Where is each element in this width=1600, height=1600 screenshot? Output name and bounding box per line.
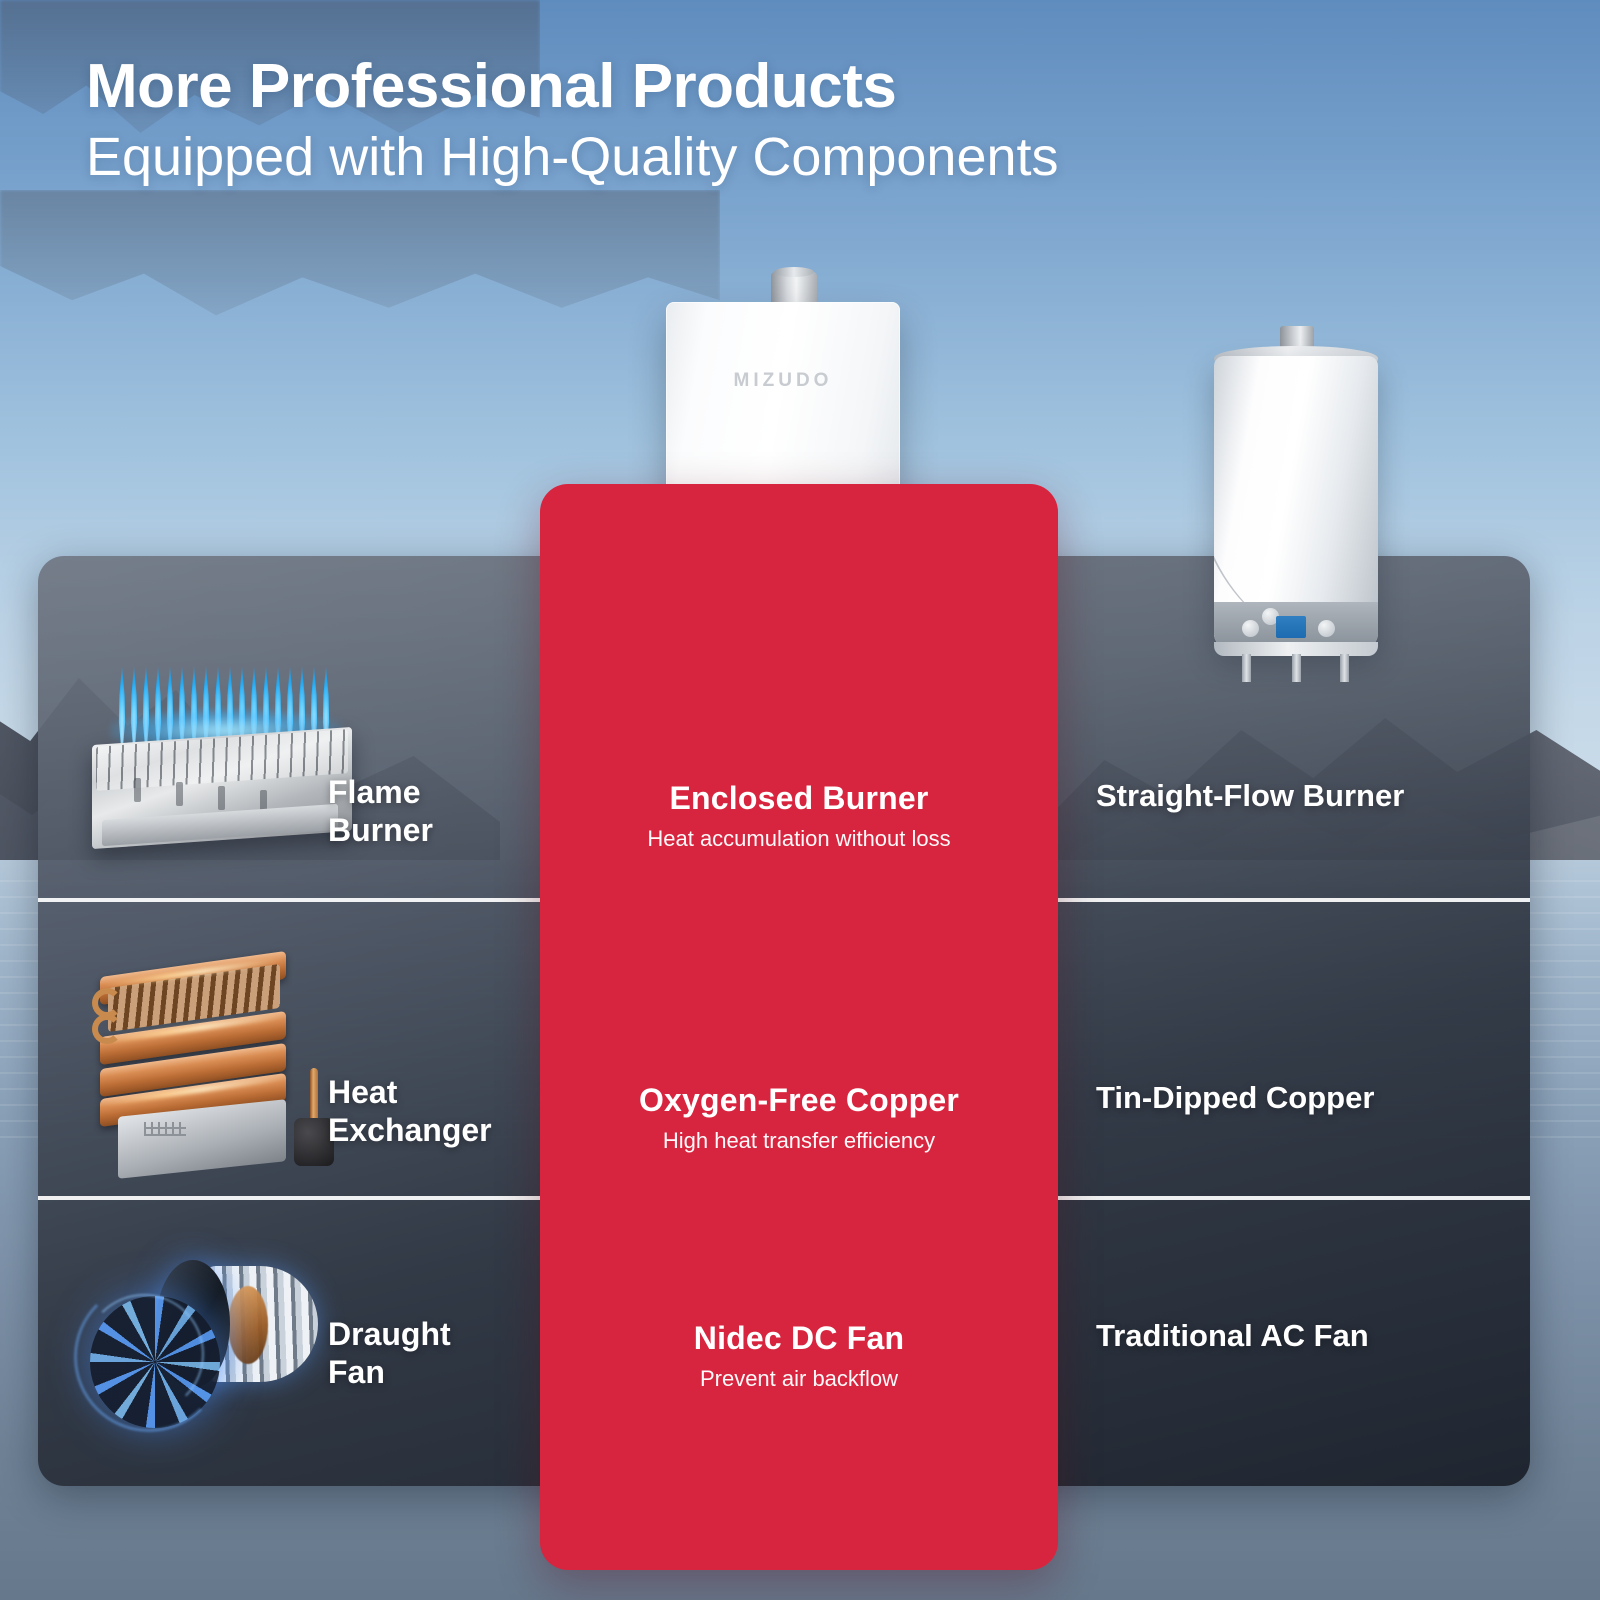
brand-logo: MIZUDO bbox=[666, 370, 900, 392]
highlight-subtitle: Heat accumulation without loss bbox=[540, 826, 1058, 852]
competitor-body bbox=[1214, 356, 1378, 648]
competitor-pipe-center bbox=[1292, 654, 1301, 682]
component-label-heat-exchanger: Heat Exchanger bbox=[328, 1074, 543, 1150]
component-label-line-1: Draught bbox=[328, 1316, 538, 1354]
highlight-subtitle: Prevent air backflow bbox=[540, 1366, 1058, 1392]
competitor-display bbox=[1276, 616, 1306, 638]
component-label-draught-fan: Draught Fan bbox=[328, 1316, 538, 1392]
component-label-line-1: Heat bbox=[328, 1074, 543, 1112]
draught-fan-image bbox=[88, 1238, 326, 1436]
competitor-button-3[interactable] bbox=[1318, 620, 1335, 637]
competitor-pipe-right bbox=[1340, 654, 1349, 682]
competitor-base-cap bbox=[1214, 642, 1378, 656]
burner-slot-1 bbox=[134, 778, 141, 802]
burner-slot-3 bbox=[218, 786, 225, 810]
hx-vent-holes bbox=[144, 1122, 186, 1136]
highlight-row-oxygen-free-copper: Oxygen-Free Copper High heat transfer ef… bbox=[540, 1082, 1058, 1154]
flue-pipe-icon bbox=[771, 272, 817, 306]
hx-coil-2 bbox=[92, 1014, 122, 1044]
rival-label-tin-dipped-copper: Tin-Dipped Copper bbox=[1096, 1080, 1516, 1117]
component-label-line-1: Flame bbox=[328, 774, 538, 812]
rival-label-straight-flow-burner: Straight-Flow Burner bbox=[1096, 778, 1516, 815]
highlight-row-enclosed-burner: Enclosed Burner Heat accumulation withou… bbox=[540, 780, 1058, 852]
burner-slot-2 bbox=[176, 782, 183, 806]
heat-exchanger-image bbox=[92, 952, 340, 1170]
headline-line-2: Equipped with High-Quality Components bbox=[86, 127, 1059, 187]
rival-label-traditional-ac-fan: Traditional AC Fan bbox=[1096, 1318, 1516, 1355]
page-title: More Professional Products Equipped with… bbox=[86, 54, 1059, 188]
competitor-button-1[interactable] bbox=[1242, 620, 1259, 637]
competitor-water-heater bbox=[1208, 326, 1384, 672]
component-label-flame-burner: Flame Burner bbox=[328, 774, 538, 850]
fan-airflow-swirl-2 bbox=[84, 1294, 204, 1414]
component-label-line-2: Exchanger bbox=[328, 1112, 543, 1150]
fan-copper-winding bbox=[228, 1286, 268, 1364]
component-label-line-2: Burner bbox=[328, 812, 538, 850]
highlight-card: Enclosed Burner Heat accumulation withou… bbox=[540, 484, 1058, 1570]
headline-line-1: More Professional Products bbox=[86, 54, 1059, 119]
competitor-pipe-left bbox=[1242, 654, 1251, 682]
flame-burner-image bbox=[86, 662, 362, 852]
highlight-subtitle: High heat transfer efficiency bbox=[540, 1128, 1058, 1154]
component-label-line-2: Fan bbox=[328, 1354, 538, 1392]
highlight-title: Nidec DC Fan bbox=[540, 1320, 1058, 1357]
highlight-title: Oxygen-Free Copper bbox=[540, 1082, 1058, 1119]
highlight-row-nidec-dc-fan: Nidec DC Fan Prevent air backflow bbox=[540, 1320, 1058, 1392]
highlight-title: Enclosed Burner bbox=[540, 780, 1058, 817]
